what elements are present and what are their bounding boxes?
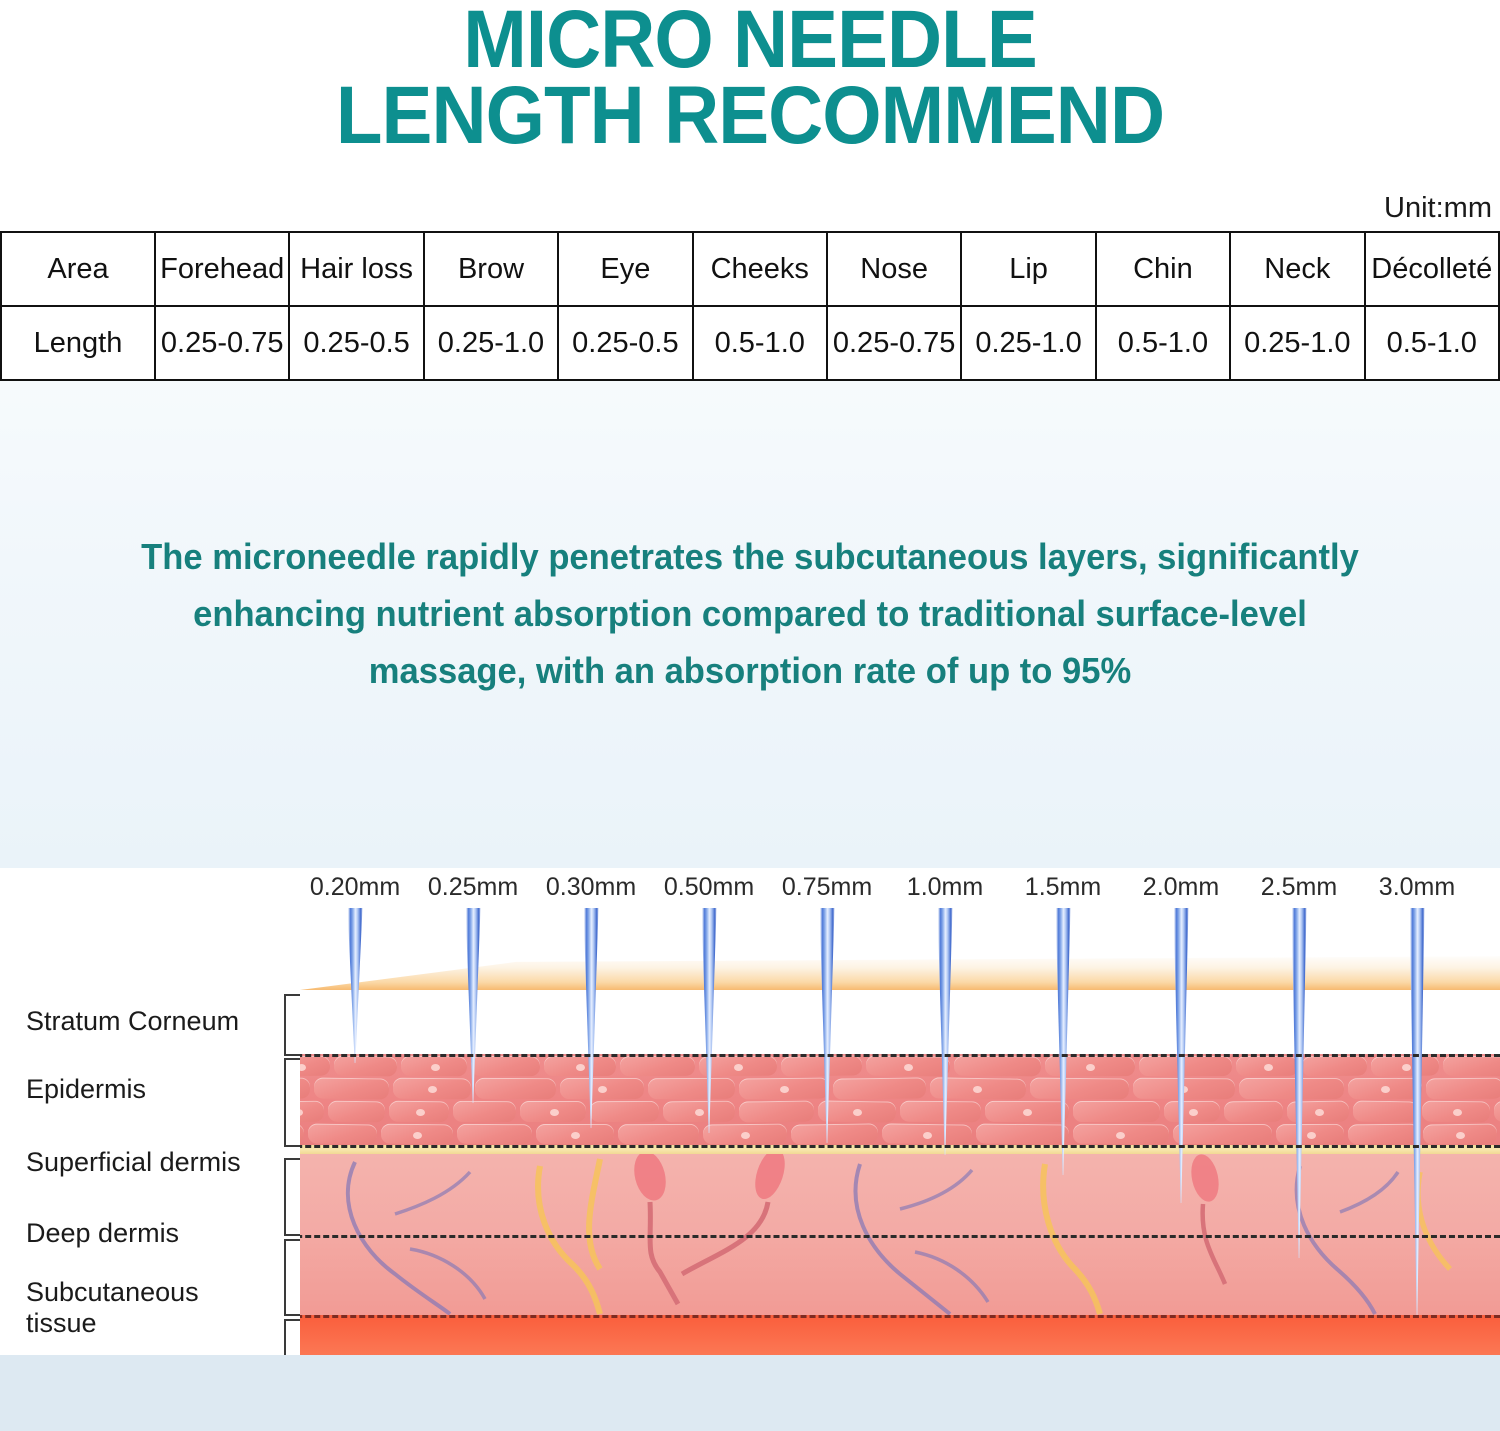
needle-cone	[348, 908, 363, 1063]
epidermis-cell	[739, 1100, 814, 1122]
epidermis-cell	[308, 1123, 377, 1144]
epidermis-cell	[1348, 1124, 1419, 1145]
needle-label-1-0mm: 1.0mm	[907, 873, 983, 902]
epidermis-cell-nucleus	[550, 1109, 559, 1116]
needle-cone	[938, 908, 953, 1155]
bracket-subcutaneous	[284, 1319, 300, 1355]
layer-label-epidermis: Epidermis	[26, 1074, 146, 1105]
needle-label-0-30mm: 0.30mm	[546, 873, 636, 902]
table-cell-length-7: 0.5-1.0	[1096, 306, 1230, 380]
needle-label-0-25mm: 0.25mm	[428, 873, 518, 902]
table-header-area: Area	[1, 232, 155, 306]
table-cell-length-9: 0.5-1.0	[1365, 306, 1499, 380]
epidermis-cell	[1030, 1078, 1129, 1100]
table-cell-area-8: Neck	[1230, 232, 1364, 306]
needle-length-table: AreaForeheadHair lossBrowEyeCheeksNoseLi…	[0, 231, 1500, 381]
needle-0-30mm	[584, 908, 599, 1128]
needle-cone	[584, 908, 599, 1128]
bracket-superficial-dermis	[284, 1158, 300, 1236]
epidermis-cell	[954, 1056, 1041, 1077]
layer-label-subcutaneous-tissue: Subcutaneous tissue	[26, 1277, 256, 1339]
table-cell-area-0: Forehead	[155, 232, 289, 306]
epidermis-cell-nucleus	[431, 1064, 440, 1071]
skin-penetration-diagram: Stratum Corneum Epidermis Superficial de…	[0, 868, 1500, 1355]
epidermis-cell	[618, 1124, 699, 1144]
epidermis-cell-nucleus	[1307, 1132, 1316, 1139]
table-cell-length-2: 0.25-1.0	[424, 306, 558, 380]
epidermis-cell	[590, 1101, 659, 1122]
epidermis-cell-nucleus	[1315, 1109, 1324, 1116]
table-cell-length-4: 0.5-1.0	[693, 306, 827, 380]
epidermis-cell-nucleus	[923, 1132, 932, 1139]
epidermis-cell-nucleus	[571, 1132, 580, 1139]
needle-0-25mm	[466, 908, 481, 1103]
needle-label-2-0mm: 2.0mm	[1143, 873, 1219, 902]
unit-label: Unit:mm	[1384, 192, 1492, 225]
epidermis-cell	[457, 1124, 532, 1144]
epidermis-cell	[300, 1077, 310, 1099]
epidermis-cell-nucleus	[428, 1086, 437, 1093]
epidermis-cell	[833, 1077, 926, 1099]
epidermis-cell-nucleus	[1116, 1132, 1125, 1139]
layer-label-stratum-corneum: Stratum Corneum	[26, 1006, 239, 1037]
table-cell-length-6: 0.25-1.0	[961, 306, 1095, 380]
needle-label-1-5mm: 1.5mm	[1025, 873, 1101, 902]
epidermis-cell	[791, 1123, 878, 1144]
needle-cone	[1056, 908, 1071, 1175]
epidermis-cell-nucleus	[416, 1109, 425, 1116]
needle-label-0-75mm: 0.75mm	[782, 873, 872, 902]
page-title: MICRO NEEDLE LENGTH RECOMMEND	[53, 2, 1448, 154]
epidermis-cell-nucleus	[741, 1132, 750, 1139]
layer-label-deep-dermis: Deep dermis	[26, 1218, 179, 1249]
epidermis-cell	[475, 1078, 556, 1099]
epidermis-cell	[334, 1056, 397, 1077]
epidermis-cell-nucleus	[1086, 1064, 1095, 1071]
needle-label-0-20mm: 0.20mm	[310, 873, 400, 902]
epidermis-cell	[300, 1101, 324, 1123]
needle-label-3-0mm: 3.0mm	[1379, 873, 1455, 902]
epidermis-cell	[620, 1056, 695, 1076]
epidermis-cell	[471, 1056, 540, 1076]
epidermis-cell-nucleus	[734, 1064, 743, 1071]
layer-label-superficial-dermis: Superficial dermis	[26, 1147, 241, 1178]
table-cell-length-3: 0.25-0.5	[558, 306, 692, 380]
table-row-length: Length0.25-0.750.25-0.50.25-1.00.25-0.50…	[1, 306, 1499, 380]
table-cell-area-3: Eye	[558, 232, 692, 306]
epidermis-cell-nucleus	[780, 1086, 789, 1093]
table-cell-area-4: Cheeks	[693, 232, 827, 306]
table-cell-area-7: Chin	[1096, 232, 1230, 306]
bracket-deep-dermis	[284, 1239, 300, 1316]
needle-3-0mm	[1410, 908, 1425, 1317]
needle-2-5mm	[1292, 908, 1307, 1258]
epidermis-cell	[1426, 1078, 1500, 1100]
needle-label-0-50mm: 0.50mm	[664, 873, 754, 902]
epidermis-cell-nucleus	[413, 1132, 422, 1139]
needle-1-0mm	[938, 908, 953, 1155]
table-cell-area-6: Lip	[961, 232, 1095, 306]
table-cell-length-5: 0.25-0.75	[827, 306, 961, 380]
layer-subcutaneous-tissue	[300, 1315, 1500, 1355]
epidermis-cell-nucleus	[1264, 1064, 1273, 1071]
epidermis-cell	[328, 1101, 385, 1123]
epidermis-cell-nucleus	[1456, 1132, 1465, 1139]
epidermis-cell	[1302, 1056, 1367, 1077]
epidermis-cell-nucleus	[300, 1064, 306, 1071]
epidermis-cell-nucleus	[598, 1086, 607, 1093]
needle-label-2-5mm: 2.5mm	[1261, 873, 1337, 902]
table-cell-area-5: Nose	[827, 232, 961, 306]
epidermis-cell-nucleus	[1453, 1109, 1462, 1116]
bracket-stratum-corneum	[284, 994, 300, 1056]
epidermis-cell-nucleus	[1023, 1109, 1032, 1116]
needle-length-table-wrapper: AreaForeheadHair lossBrowEyeCheeksNoseLi…	[0, 231, 1500, 381]
table-cell-area-1: Hair loss	[289, 232, 423, 306]
epidermis-cell	[1073, 1101, 1160, 1122]
epidermis-cell	[1443, 1055, 1500, 1076]
epidermis-cell-nucleus	[904, 1064, 913, 1071]
needle-cone	[702, 908, 717, 1133]
bracket-epidermis	[284, 1058, 300, 1147]
epidermis-cell	[1224, 1101, 1283, 1123]
table-cell-length-0: 0.25-0.75	[155, 306, 289, 380]
epidermis-cell	[648, 1078, 735, 1099]
table-cell-area-9: Décolleté	[1365, 232, 1499, 306]
epidermis-cell	[453, 1101, 516, 1122]
table-cell-area-2: Brow	[424, 232, 558, 306]
needle-1-5mm	[1056, 908, 1071, 1175]
needle-0-20mm	[348, 908, 363, 1063]
table-cell-length-8: 0.25-1.0	[1230, 306, 1364, 380]
epidermis-cell	[1494, 1101, 1500, 1122]
needle-cone	[466, 908, 481, 1103]
needle-cone	[1410, 908, 1425, 1317]
needle-0-50mm	[702, 908, 717, 1133]
needle-cone	[820, 908, 835, 1143]
epidermis-cell	[1353, 1101, 1418, 1123]
table-row-area: AreaForeheadHair lossBrowEyeCheeksNoseLi…	[1, 232, 1499, 306]
epidermis-cell-nucleus	[853, 1109, 862, 1116]
description-paragraph: The microneedle rapidly penetrates the s…	[136, 528, 1365, 699]
table-header-length: Length	[1, 306, 155, 380]
needle-0-75mm	[820, 908, 835, 1143]
table-cell-length-1: 0.25-0.5	[289, 306, 423, 380]
epidermis-cell	[314, 1077, 389, 1099]
epidermis-cell	[300, 1124, 304, 1145]
needle-cone	[1292, 908, 1307, 1258]
